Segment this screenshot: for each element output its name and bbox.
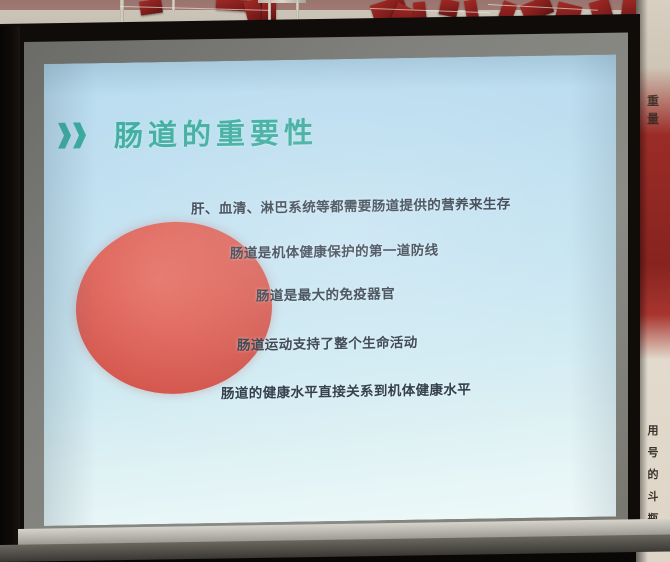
wall-pole [172, 0, 175, 12]
slide-body-lines: 肝、血清、淋巴系统等都需要肠道提供的营养来生存 肠道是机体健康保护的第一道防线 … [44, 55, 616, 526]
slide-line: 肠道的健康水平直接关系到机体健康水平 [221, 378, 471, 402]
left-dark-pillar [0, 26, 20, 562]
slide-line: 肝、血清、淋巴系统等都需要肠道提供的营养来生存 [191, 192, 511, 217]
wall-pole [120, 0, 124, 22]
slide-line: 肠道是机体健康保护的第一道防线 [230, 238, 439, 261]
slide-line: 肠道运动支持了整个生命活动 [237, 331, 418, 354]
wall-poster-top-glyphs: 重量 [638, 92, 668, 128]
projected-slide: 肠道的重要性 肝、血清、淋巴系统等都需要肠道提供的营养来生存 肠道是机体健康保护… [44, 55, 616, 526]
wall-poster-glyphs: 用号的斗瓶 [636, 420, 670, 530]
photo-root: 重量 用号的斗瓶 肠道的重要性 肝、血清、淋巴系统等都需要肠道提供的营养来生存 … [0, 0, 670, 562]
slide-line: 肠道是最大的免疫器官 [256, 282, 395, 304]
